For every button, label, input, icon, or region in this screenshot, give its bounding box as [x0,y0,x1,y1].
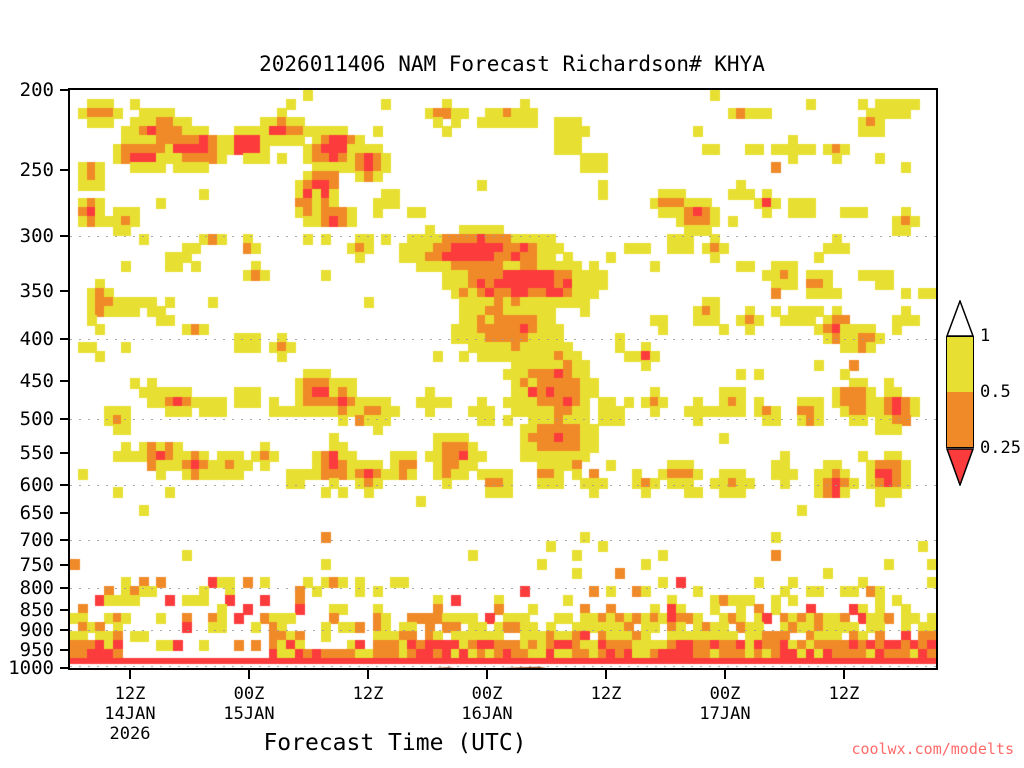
grid-line [70,236,936,237]
colorbar-extend-top-arrow [946,300,974,336]
y-tick-label: 350 [20,280,54,302]
x-tick-mark [486,670,488,679]
colorbar: 10.50.25 [946,300,974,484]
y-tick-label: 750 [20,554,54,576]
y-tick-label: 650 [20,502,54,524]
colorbar-tick-label: 1 [980,326,990,346]
colorbar-extend-bottom-arrow [946,448,974,486]
colorbar-extend-bottom [946,448,974,484]
x-tick-label: 00Z 17JAN [699,684,750,724]
colorbar-band [946,336,974,392]
y-tick-label: 400 [20,328,54,350]
colorbar-band [946,392,974,448]
plot-area [68,88,938,670]
grid-line [70,588,936,589]
page-title: 2026011406 NAM Forecast Richardson# KHYA [0,52,1024,76]
grid-line [70,339,936,340]
y-axis: 2002503003504004505005506006507007508008… [0,0,62,768]
x-axis-title: Forecast Time (UTC) [0,730,790,756]
grid-line [70,540,936,541]
y-tick-label: 250 [20,159,54,181]
y-tick-label: 600 [20,474,54,496]
y-tick-label: 550 [20,442,54,464]
colorbar-extend-top [946,300,974,336]
grid-line [70,485,936,486]
heatmap-cells [70,90,936,668]
x-tick-mark [367,670,369,679]
y-tick-label: 850 [20,599,54,621]
y-tick-label: 1000 [8,657,54,679]
x-tick-mark [248,670,250,679]
y-tick-label: 500 [20,408,54,430]
colorbar-tick-label: 0.25 [980,438,1021,458]
x-tick-mark [129,670,131,679]
chart-page: 2026011406 NAM Forecast Richardson# KHYA… [0,0,1024,768]
x-tick-label: 00Z 15JAN [223,684,274,724]
x-tick-label: 12Z [353,684,384,704]
y-tick-label: 700 [20,529,54,551]
x-tick-label: 12Z [591,684,622,704]
y-tick-label: 450 [20,370,54,392]
y-tick-label: 300 [20,225,54,247]
grid-line [70,419,936,420]
colorbar-body [946,336,974,448]
x-tick-mark [724,670,726,679]
colorbar-tick-label: 0.5 [980,382,1011,402]
x-tick-mark [843,670,845,679]
x-tick-label: 00Z 16JAN [461,684,512,724]
credit-link[interactable]: coolwx.com/modelts [851,740,1014,758]
x-tick-mark [605,670,607,679]
y-tick-label: 800 [20,577,54,599]
grid-line [70,668,936,669]
y-tick-label: 200 [20,79,54,101]
grid-line [70,630,936,631]
x-tick-label: 12Z [829,684,860,704]
